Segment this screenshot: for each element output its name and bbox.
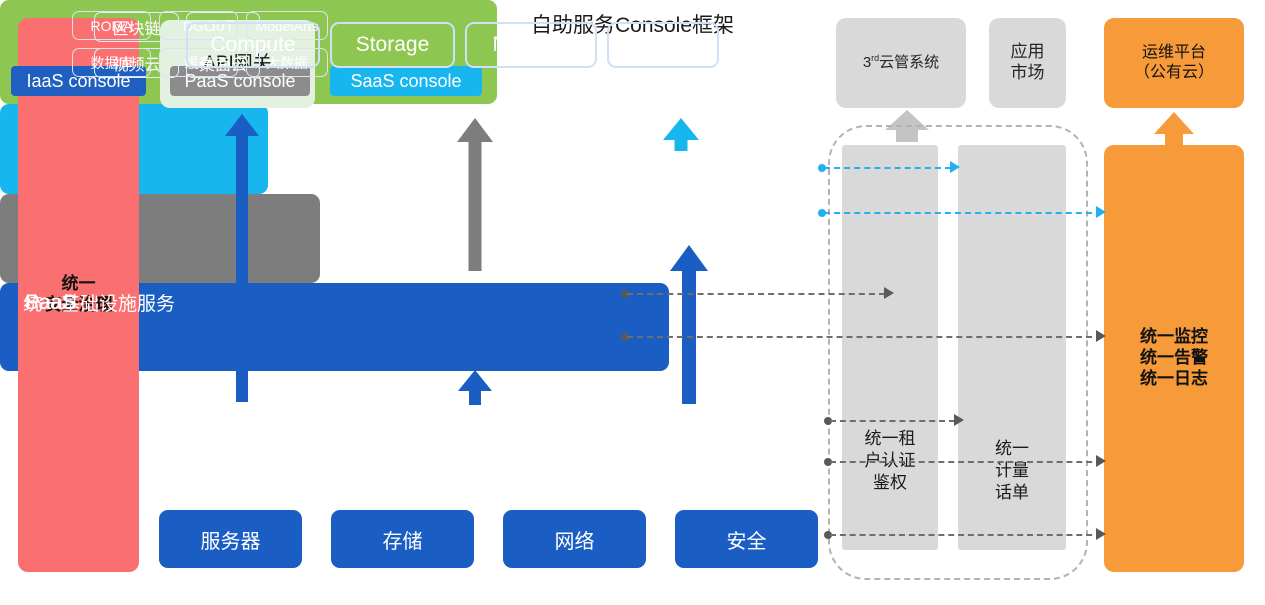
connector-foundation-to-ops (830, 534, 1102, 536)
ops-panel-line1: 统一监控 (1140, 327, 1208, 348)
connector-saas-to-auth (824, 167, 951, 169)
arrowhead-infra-to-ops (1096, 455, 1106, 467)
connector-paas-to-auth (627, 293, 885, 295)
metering-column-text: 统一 计量 话单 (958, 438, 1066, 504)
arrowhead-infra-to-meter (954, 414, 964, 426)
app-market-line2: 市场 (1011, 63, 1045, 84)
unified-metering-billing-column: 统一 计量 话单 (958, 145, 1066, 550)
arrowhead-paas-to-ops (1096, 330, 1106, 342)
ops-platform-public-cloud-box: 运维平台 （公有云） (1104, 18, 1244, 108)
metering-line2: 计量 (958, 460, 1066, 482)
arrow-infra-to-saas (670, 245, 708, 403)
arrowhead-paas-to-auth (884, 287, 894, 299)
foundation-box-security: 安全 (675, 510, 818, 568)
ops-top-line2: （公有云） (1134, 63, 1214, 83)
auth-line1: 统一租 (842, 428, 938, 450)
arrow-paas-to-console (457, 118, 493, 270)
unified-tenant-auth-column: 统一租 户认证 鉴权 (842, 145, 938, 550)
arrow-infra-to-paas (458, 370, 492, 404)
infrastructure-label: 统一基础设施服务 (14, 0, 184, 605)
connector-infra-to-auth (830, 420, 955, 422)
saas-console-chip[interactable]: SaaS console (330, 66, 482, 96)
app-market-line1: 应用 (1011, 42, 1045, 63)
connector-paas-to-ops (627, 336, 1102, 338)
connector-infra-to-ops (830, 461, 1102, 463)
auth-line3: 鉴权 (842, 472, 938, 494)
infra-chip-network[interactable]: Network (465, 22, 597, 68)
connector-saas-to-ops (824, 212, 1102, 214)
architecture-diagram-canvas: 统一 安全治理 API网关 自助服务Console框架 IaaS console… (0, 0, 1265, 605)
ops-panel-line3: 统一日志 (1140, 369, 1208, 390)
app-market-box: 应用 市场 (989, 18, 1066, 108)
infra-chip-cce[interactable]: CCE (607, 22, 719, 68)
arrow-ops-panel-to-ops-platform (1154, 112, 1194, 148)
metering-line3: 话单 (958, 482, 1066, 504)
unified-infrastructure-service-bar: 统一基础设施服务 Compute Storage Network CCE (0, 283, 669, 371)
ops-panel-line2: 统一告警 (1140, 348, 1208, 369)
third-cloud-label: 3rd云管系统 (863, 53, 939, 72)
arrow-infra-to-api-gateway (225, 114, 259, 402)
arrowhead-foundation-to-ops (1096, 528, 1106, 540)
arrowhead-saas-to-ops (1096, 206, 1106, 218)
infra-chip-storage[interactable]: Storage (330, 22, 455, 68)
infra-chip-compute[interactable]: Compute (186, 22, 320, 68)
arrowhead-saas-to-meter (950, 161, 960, 173)
foundation-box-server: 服务器 (159, 510, 302, 568)
arrow-saas-to-console (663, 118, 699, 150)
unified-monitoring-panel: 统一监控 统一告警 统一日志 (1104, 145, 1244, 572)
foundation-box-storage: 存储 (331, 510, 474, 568)
foundation-box-network: 网络 (503, 510, 646, 568)
metering-line1: 统一 (958, 438, 1066, 460)
third-party-cloud-management-box: 3rd云管系统 (836, 18, 966, 108)
ops-top-line1: 运维平台 (1134, 43, 1214, 63)
